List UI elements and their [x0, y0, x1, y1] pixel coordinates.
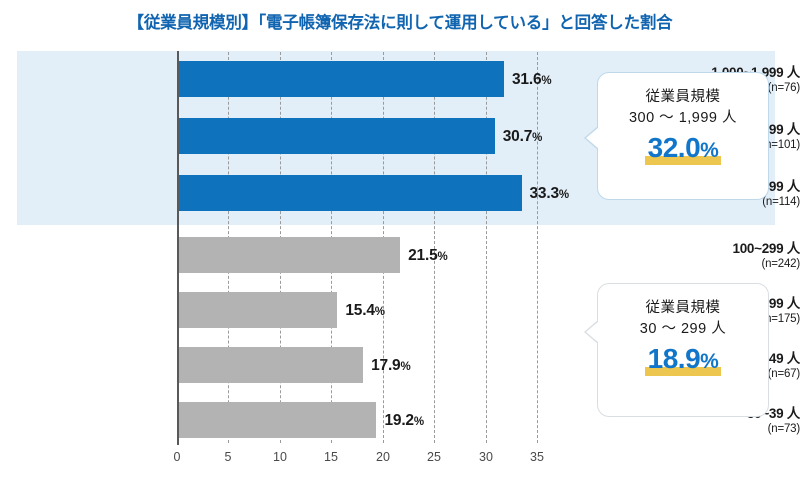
- callout-value-number: 18.9: [648, 343, 701, 374]
- callout-value-number: 32.0: [648, 132, 701, 163]
- bar-value-row-4: 21.5%: [408, 247, 447, 265]
- xtick-5: 5: [213, 450, 243, 464]
- bar-value-number: 19.2: [384, 412, 413, 429]
- bar-value-row-6: 17.9%: [371, 357, 410, 375]
- bar-row-6[interactable]: [179, 347, 363, 383]
- bar-value-number: 15.4: [345, 302, 374, 319]
- category-sample-size: (n=73): [630, 422, 800, 436]
- callout-large-companies: 従業員規模 300 ～ 1,999 人 32.0%: [597, 72, 769, 200]
- callout-label-line1: 従業員規模: [598, 87, 768, 108]
- bar-value-unit: %: [375, 306, 385, 318]
- callout-small-companies: 従業員規模 30 ～ 299 人 18.9%: [597, 283, 769, 417]
- callout-label-line2: 30 ～ 299 人: [598, 319, 768, 340]
- bar-value-row-3: 33.3%: [530, 185, 569, 203]
- bar-row-3[interactable]: [179, 175, 522, 211]
- bar-value-row-7: 19.2%: [384, 412, 423, 430]
- xtick-30: 30: [471, 450, 501, 464]
- bar-value-number: 33.3: [530, 185, 559, 202]
- bar-value-number: 31.6: [512, 71, 541, 88]
- callout-label-line2: 300 ～ 1,999 人: [598, 108, 768, 129]
- bar-value-number: 17.9: [371, 357, 400, 374]
- bar-value-unit: %: [532, 132, 542, 144]
- callout-tail-icon: [586, 321, 599, 343]
- xtick-25: 25: [419, 450, 449, 464]
- bar-row-2[interactable]: [179, 118, 495, 154]
- bar-row-7[interactable]: [179, 402, 376, 438]
- bar-value-number: 30.7: [503, 128, 532, 145]
- bar-row-5[interactable]: [179, 292, 337, 328]
- bar-row-4[interactable]: [179, 237, 400, 273]
- xtick-35: 35: [522, 450, 552, 464]
- bar-row-1[interactable]: [179, 61, 504, 97]
- gridline-35: [537, 52, 538, 443]
- callout-value-wrap: 32.0%: [648, 133, 719, 166]
- callout-label-line1: 従業員規模: [598, 298, 768, 319]
- gridline-30: [486, 52, 487, 443]
- category-sample-size: (n=242): [630, 257, 800, 271]
- xtick-15: 15: [316, 450, 346, 464]
- bar-value-unit: %: [559, 189, 569, 201]
- xtick-0: 0: [162, 450, 192, 464]
- callout-value-unit: %: [700, 139, 718, 162]
- callout-value: 18.9%: [648, 344, 719, 377]
- bar-value-unit: %: [438, 251, 448, 263]
- bar-value-row-1: 31.6%: [512, 71, 551, 89]
- bar-value-unit: %: [414, 416, 424, 428]
- callout-value: 32.0%: [648, 133, 719, 166]
- bar-value-row-2: 30.7%: [503, 128, 542, 146]
- callout-value-unit: %: [700, 350, 718, 373]
- bar-value-unit: %: [541, 75, 551, 87]
- bar-value-number: 21.5: [408, 247, 437, 264]
- category-label: 100~299 人 (n=242): [630, 241, 800, 271]
- bar-value-unit: %: [400, 361, 410, 373]
- callout-value-wrap: 18.9%: [648, 344, 719, 377]
- xtick-20: 20: [368, 450, 398, 464]
- xtick-10: 10: [265, 450, 295, 464]
- bar-value-row-5: 15.4%: [345, 302, 384, 320]
- callout-tail-icon: [586, 127, 599, 149]
- category-name: 100~299 人: [630, 241, 800, 257]
